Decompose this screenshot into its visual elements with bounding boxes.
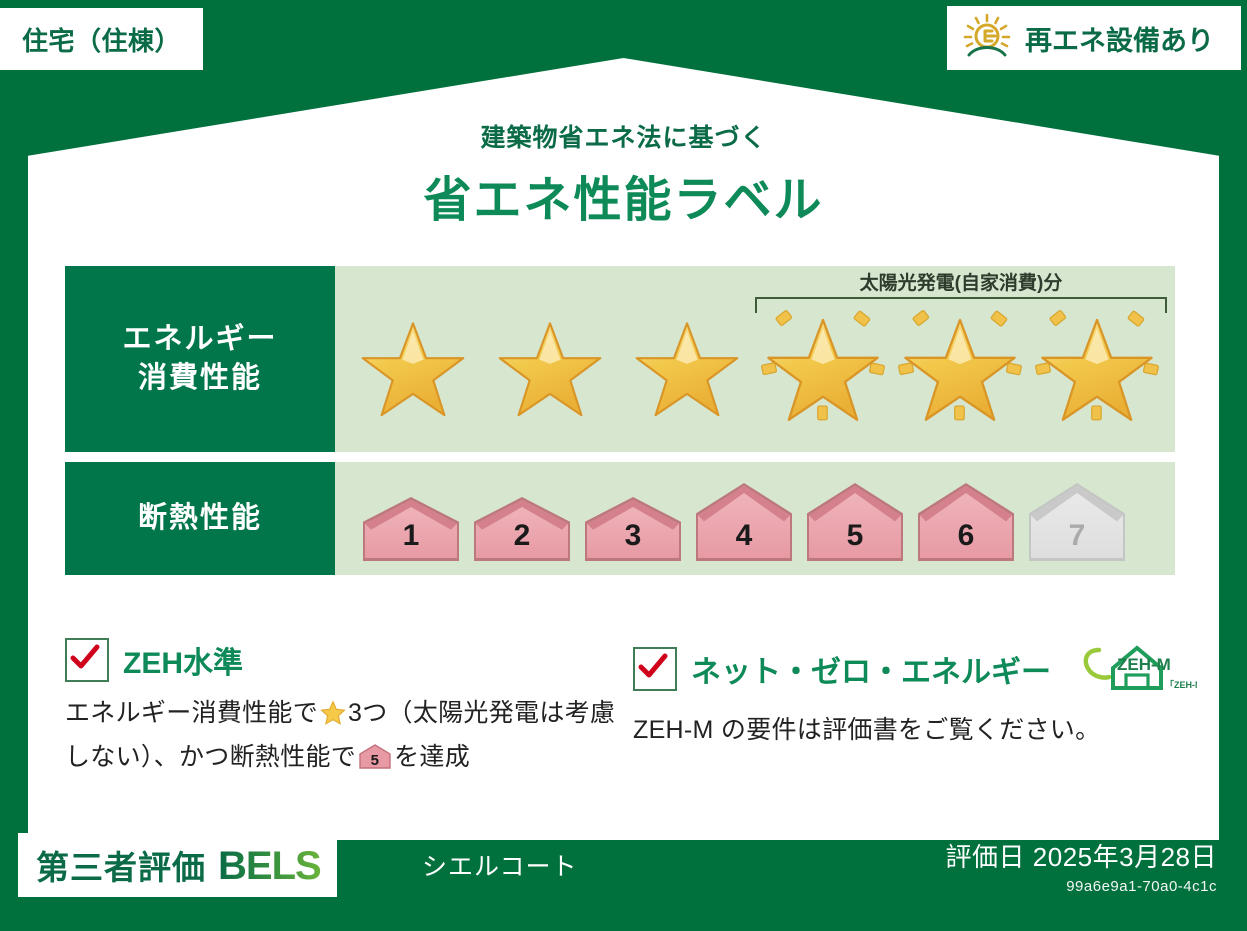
- cert-zeh-standard: ZEH水準 エネルギー消費性能で3つ（太陽光発電は考慮しない）、かつ断熱性能で5…: [65, 638, 617, 782]
- insulation-level-7: 7: [1023, 479, 1131, 565]
- zeh-standard-title: ZEH水準: [123, 638, 243, 682]
- star-icon: [320, 699, 346, 738]
- label-title-block: 建築物省エネ法に基づく 省エネ性能ラベル: [0, 118, 1247, 230]
- bels-footer-badge: 第三者評価 BELS: [18, 833, 337, 897]
- zeh-standard-checkbox[interactable]: [65, 638, 109, 682]
- zeh-standard-description: エネルギー消費性能で3つ（太陽光発電は考慮しない）、かつ断熱性能で5を達成: [65, 694, 617, 782]
- energy-label-line1: エネルギー: [122, 320, 277, 359]
- category-chip: 住宅（住棟）: [0, 8, 203, 70]
- star-rating-group: [335, 294, 1175, 430]
- star-base: [622, 294, 752, 430]
- label-main-title: 省エネ性能ラベル: [0, 160, 1247, 230]
- cert-net-zero-energy: ネット・ゼロ・エネルギー ZEH-M 「ZEH-M」 ZEH-M の要件は評価書…: [633, 638, 1185, 782]
- label-subtitle: 建築物省エネ法に基づく: [0, 118, 1247, 154]
- evaluation-date: 評価日 2025年3月28日: [946, 837, 1217, 874]
- insulation-performance-label-cell: 断熱性能: [65, 462, 335, 575]
- evaluation-meta: 評価日 2025年3月28日 99a6e9a1-70a0-4c1c: [946, 837, 1217, 895]
- zeh-desc-part1: エネルギー消費性能で: [65, 699, 318, 727]
- cert-zeh-header: ZEH水準: [65, 638, 617, 682]
- renewable-energy-badge: 再エネ設備あり: [947, 6, 1241, 70]
- svg-text:5: 5: [371, 752, 380, 769]
- renewable-badge-label: 再エネ設備あり: [1025, 19, 1214, 58]
- third-party-evaluation-label: 第三者評価: [36, 841, 206, 889]
- insulation-label: 断熱性能: [138, 499, 262, 538]
- net-zero-energy-checkbox[interactable]: [633, 647, 677, 691]
- insulation-level-2: 2: [468, 493, 576, 565]
- energy-performance-label: 住宅（住棟） 再エ: [0, 0, 1247, 931]
- insulation-levels-area: 1 2: [335, 462, 1175, 575]
- svg-text:「ZEH-M」: 「ZEH-M」: [1165, 679, 1197, 690]
- house-level-5-icon: 5: [358, 743, 392, 782]
- insulation-level-5: 5: [801, 479, 909, 565]
- insulation-performance-row: 断熱性能 1: [65, 462, 1175, 575]
- net-zero-energy-title: ネット・ゼロ・エネルギー: [691, 647, 1051, 691]
- energy-performance-row: エネルギー 消費性能 太陽光発電(自家消費)分: [65, 266, 1175, 452]
- cert-nze-header: ネット・ゼロ・エネルギー ZEH-M 「ZEH-M」: [633, 638, 1185, 699]
- insulation-level-1: 1: [357, 493, 465, 565]
- star-base: [485, 294, 615, 430]
- energy-performance-label-cell: エネルギー 消費性能: [65, 266, 335, 452]
- insulation-level-4: 4: [690, 479, 798, 565]
- energy-performance-stars-area: 太陽光発電(自家消費)分: [335, 266, 1175, 452]
- insulation-level-group: 1 2: [335, 479, 1175, 565]
- bels-wordmark: BELS: [218, 844, 321, 889]
- star-base: [348, 294, 478, 430]
- zeh-m-logo: ZEH-M 「ZEH-M」: [1069, 638, 1197, 699]
- solar-annotation-label: 太陽光発電(自家消費)分: [755, 268, 1167, 295]
- category-chip-label: 住宅（住棟）: [22, 21, 181, 58]
- star-solar: [1032, 294, 1162, 430]
- energy-label-line2: 消費性能: [138, 359, 262, 398]
- star-solar: [758, 294, 888, 430]
- svg-text:ZEH-M: ZEH-M: [1117, 655, 1171, 674]
- insulation-level-6: 6: [912, 479, 1020, 565]
- net-zero-energy-description: ZEH-M の要件は評価書をご覧ください。: [633, 711, 1185, 750]
- solar-energy-icon: [961, 12, 1013, 65]
- zeh-desc-part3: を達成: [394, 743, 470, 771]
- rating-rows: エネルギー 消費性能 太陽光発電(自家消費)分: [65, 266, 1175, 575]
- building-name: シエルコート: [422, 847, 578, 883]
- certification-section: ZEH水準 エネルギー消費性能で3つ（太陽光発電は考慮しない）、かつ断熱性能で5…: [65, 638, 1185, 782]
- star-solar: [895, 294, 1025, 430]
- evaluation-id: 99a6e9a1-70a0-4c1c: [946, 878, 1217, 895]
- insulation-level-3: 3: [579, 493, 687, 565]
